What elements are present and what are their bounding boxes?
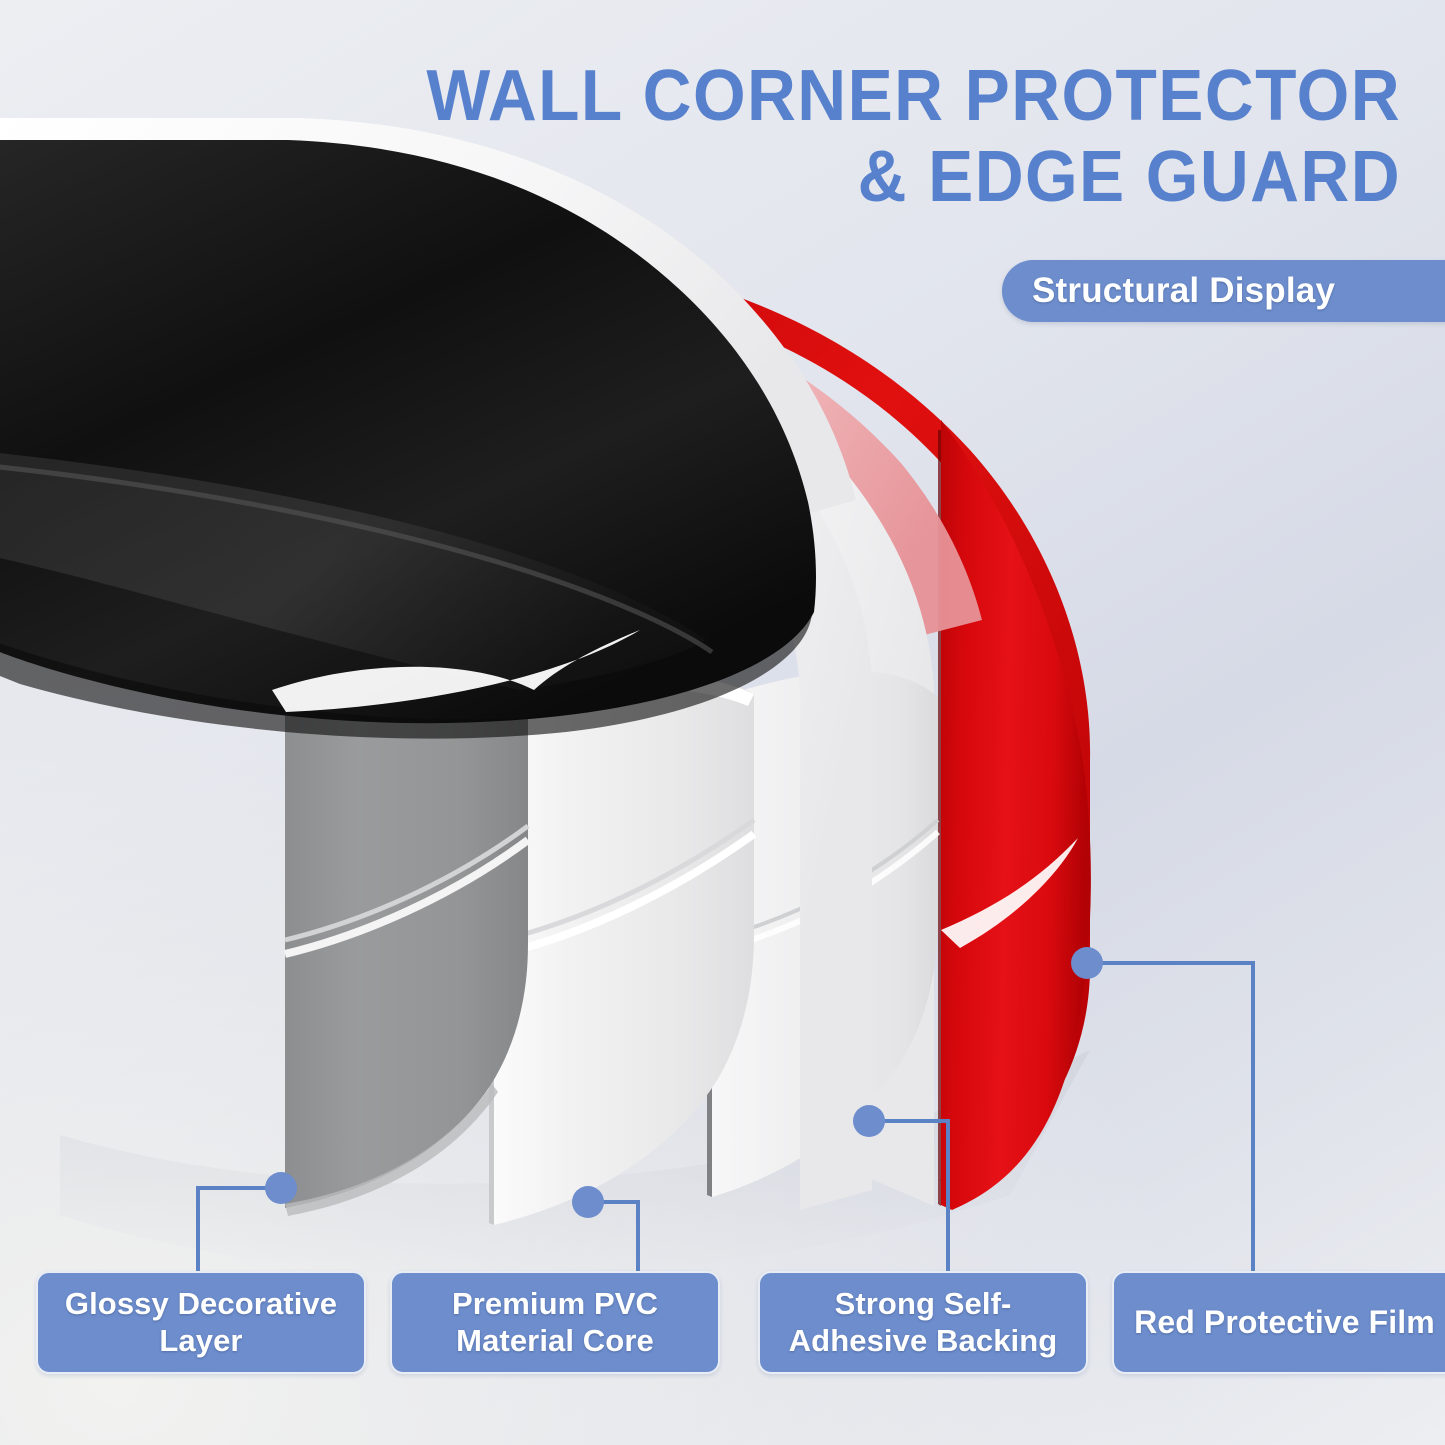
structural-display-badge: Structural Display [1002,260,1445,322]
callout-dot-glossy-decorative-layer [265,1172,297,1204]
callout-line-red-protective-film [1071,947,1253,1271]
callout-dot-strong-self-adhesive-backing [853,1105,885,1137]
title-line-2: & EDGE GUARD [292,137,1401,218]
callout-dot-red-protective-film [1071,947,1103,979]
infographic-canvas: WALL CORNER PROTECTOR & EDGE GUARD Struc… [0,0,1445,1445]
structural-display-label: Structural Display [1032,271,1335,311]
callout-dot-premium-pvc-material-core [572,1186,604,1218]
title-line-1: WALL CORNER PROTECTOR [292,56,1401,137]
callout-line-premium-pvc-material-core [572,1186,638,1271]
page-title: WALL CORNER PROTECTOR & EDGE GUARD [221,56,1401,219]
callout-line-glossy-decorative-layer [198,1172,297,1271]
callout-line-strong-self-adhesive-backing [853,1105,948,1271]
